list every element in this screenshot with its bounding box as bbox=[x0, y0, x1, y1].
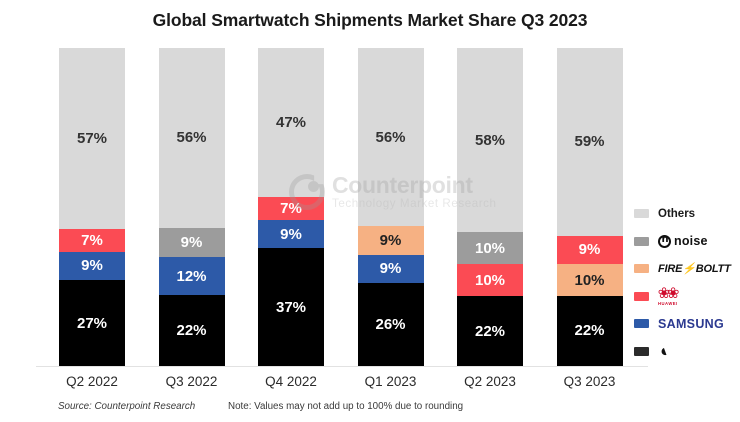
bar-segment-label: 9% bbox=[81, 258, 103, 273]
bar-segment-label: 10% bbox=[475, 241, 505, 256]
bar-segment[interactable]: 9% bbox=[358, 226, 424, 255]
chart-container: Global Smartwatch Shipments Market Share… bbox=[0, 0, 740, 422]
bar-segment[interactable]: 9% bbox=[159, 228, 225, 257]
x-axis-tick-label: Q3 2022 bbox=[149, 374, 235, 389]
x-axis-tick-label: Q1 2023 bbox=[348, 374, 434, 389]
legend-item-huawei[interactable]: ❀❀HUAWEI bbox=[634, 283, 738, 311]
noise-logo-icon bbox=[658, 235, 671, 248]
bar-segment-label: 47% bbox=[276, 115, 306, 130]
bar-segment-label: 9% bbox=[181, 235, 203, 250]
bar-segment-label: 22% bbox=[574, 323, 604, 338]
bar-segment-label: 59% bbox=[574, 134, 604, 149]
bar-segment-label: 9% bbox=[280, 227, 302, 242]
bar-segment-label: 10% bbox=[574, 273, 604, 288]
bar-segment[interactable]: 22% bbox=[159, 295, 225, 366]
legend-swatch bbox=[634, 237, 649, 246]
bar-segment-label: 9% bbox=[380, 261, 402, 276]
bar-segment[interactable]: 37% bbox=[258, 248, 324, 366]
bar-segment-label: 22% bbox=[176, 323, 206, 338]
legend-item-label: SAMSUNG bbox=[658, 317, 724, 331]
page-title: Global Smartwatch Shipments Market Share… bbox=[0, 10, 740, 31]
legend-item-label: Others bbox=[658, 208, 695, 220]
bar-segment-label: 26% bbox=[375, 317, 405, 332]
legend-item-label: FIRE⚡BOLTT bbox=[658, 262, 731, 275]
bar-segment[interactable]: 58% bbox=[457, 48, 523, 232]
bar-segment-label: 7% bbox=[81, 233, 103, 248]
bar-segment-label: 9% bbox=[579, 242, 601, 257]
bar-segment[interactable]: 9% bbox=[557, 236, 623, 265]
legend-swatch bbox=[634, 347, 649, 356]
x-axis-line bbox=[36, 366, 648, 367]
plot-area: 57%7%9%27%56%9%12%22%47%7%9%37%56%9%9%26… bbox=[40, 48, 640, 366]
bar-column[interactable]: 58%10%10%22% bbox=[457, 48, 523, 366]
legend-swatch bbox=[634, 319, 649, 328]
rounding-note: Note: Values may not add up to 100% due … bbox=[228, 401, 463, 412]
bar-segment-label: 57% bbox=[77, 131, 107, 146]
bar-segment[interactable]: 10% bbox=[457, 232, 523, 264]
bar-segment[interactable]: 10% bbox=[557, 264, 623, 296]
bar-segment-label: 27% bbox=[77, 316, 107, 331]
bar-segment-label: 56% bbox=[375, 130, 405, 145]
bar-column[interactable]: 56%9%9%26% bbox=[358, 48, 424, 366]
bar-segment[interactable]: 12% bbox=[159, 257, 225, 296]
legend-swatch bbox=[634, 209, 649, 218]
legend-item-noise[interactable]: noise bbox=[634, 228, 738, 256]
bar-segment-label: 56% bbox=[176, 130, 206, 145]
bar-column[interactable]: 57%7%9%27% bbox=[59, 48, 125, 366]
bar-segment[interactable]: 7% bbox=[59, 229, 125, 251]
bar-segment-label: 58% bbox=[475, 133, 505, 148]
legend-swatch bbox=[634, 264, 649, 273]
bar-segment[interactable]: 9% bbox=[258, 220, 324, 249]
x-axis-tick-label: Q3 2023 bbox=[547, 374, 633, 389]
bar-segment[interactable]: 7% bbox=[258, 197, 324, 219]
source-note: Source: Counterpoint Research bbox=[58, 401, 195, 412]
bar-segment-label: 12% bbox=[176, 269, 206, 284]
legend-item-label: HUAWEI bbox=[658, 302, 678, 306]
x-axis-tick-label: Q2 2023 bbox=[447, 374, 533, 389]
x-axis-tick-label: Q2 2022 bbox=[49, 374, 135, 389]
bar-segment[interactable]: 57% bbox=[59, 48, 125, 229]
bar-column[interactable]: 56%9%12%22% bbox=[159, 48, 225, 366]
bar-segment[interactable]: 27% bbox=[59, 280, 125, 366]
bar-segment[interactable]: 56% bbox=[159, 48, 225, 228]
legend-swatch bbox=[634, 292, 649, 301]
x-axis-tick-label: Q4 2022 bbox=[248, 374, 334, 389]
legend-item-fire-boltt[interactable]: FIRE⚡BOLTT bbox=[634, 255, 738, 283]
bar-segment[interactable]: 9% bbox=[358, 255, 424, 284]
legend-item-samsung[interactable]: SAMSUNG bbox=[634, 310, 738, 338]
bar-segment[interactable]: 22% bbox=[457, 296, 523, 366]
legend-item-label: noise bbox=[674, 234, 708, 248]
legend-item-apple[interactable]: ◖ bbox=[634, 338, 738, 366]
bar-segment-label: 7% bbox=[280, 201, 302, 216]
bar-segment-label: 37% bbox=[276, 300, 306, 315]
legend: OthersnoiseFIRE⚡BOLTT❀❀HUAWEISAMSUNG◖ bbox=[634, 200, 738, 365]
bar-segment[interactable]: 9% bbox=[59, 252, 125, 281]
bar-segment[interactable]: 22% bbox=[557, 296, 623, 366]
apple-logo-icon: ◖ bbox=[655, 342, 670, 361]
legend-item-others[interactable]: Others bbox=[634, 200, 738, 228]
bar-column[interactable]: 59%9%10%22% bbox=[557, 48, 623, 366]
bar-segment[interactable]: 26% bbox=[358, 283, 424, 366]
bar-segment-label: 22% bbox=[475, 324, 505, 339]
bar-column[interactable]: 47%7%9%37% bbox=[258, 48, 324, 366]
bar-segment[interactable]: 10% bbox=[457, 264, 523, 296]
bar-segment[interactable]: 56% bbox=[358, 48, 424, 226]
bar-segment-label: 9% bbox=[380, 233, 402, 248]
huawei-logo-icon: ❀❀HUAWEI bbox=[658, 286, 678, 306]
bar-segment-label: 10% bbox=[475, 273, 505, 288]
bar-segment[interactable]: 59% bbox=[557, 48, 623, 236]
bar-segment[interactable]: 47% bbox=[258, 48, 324, 197]
